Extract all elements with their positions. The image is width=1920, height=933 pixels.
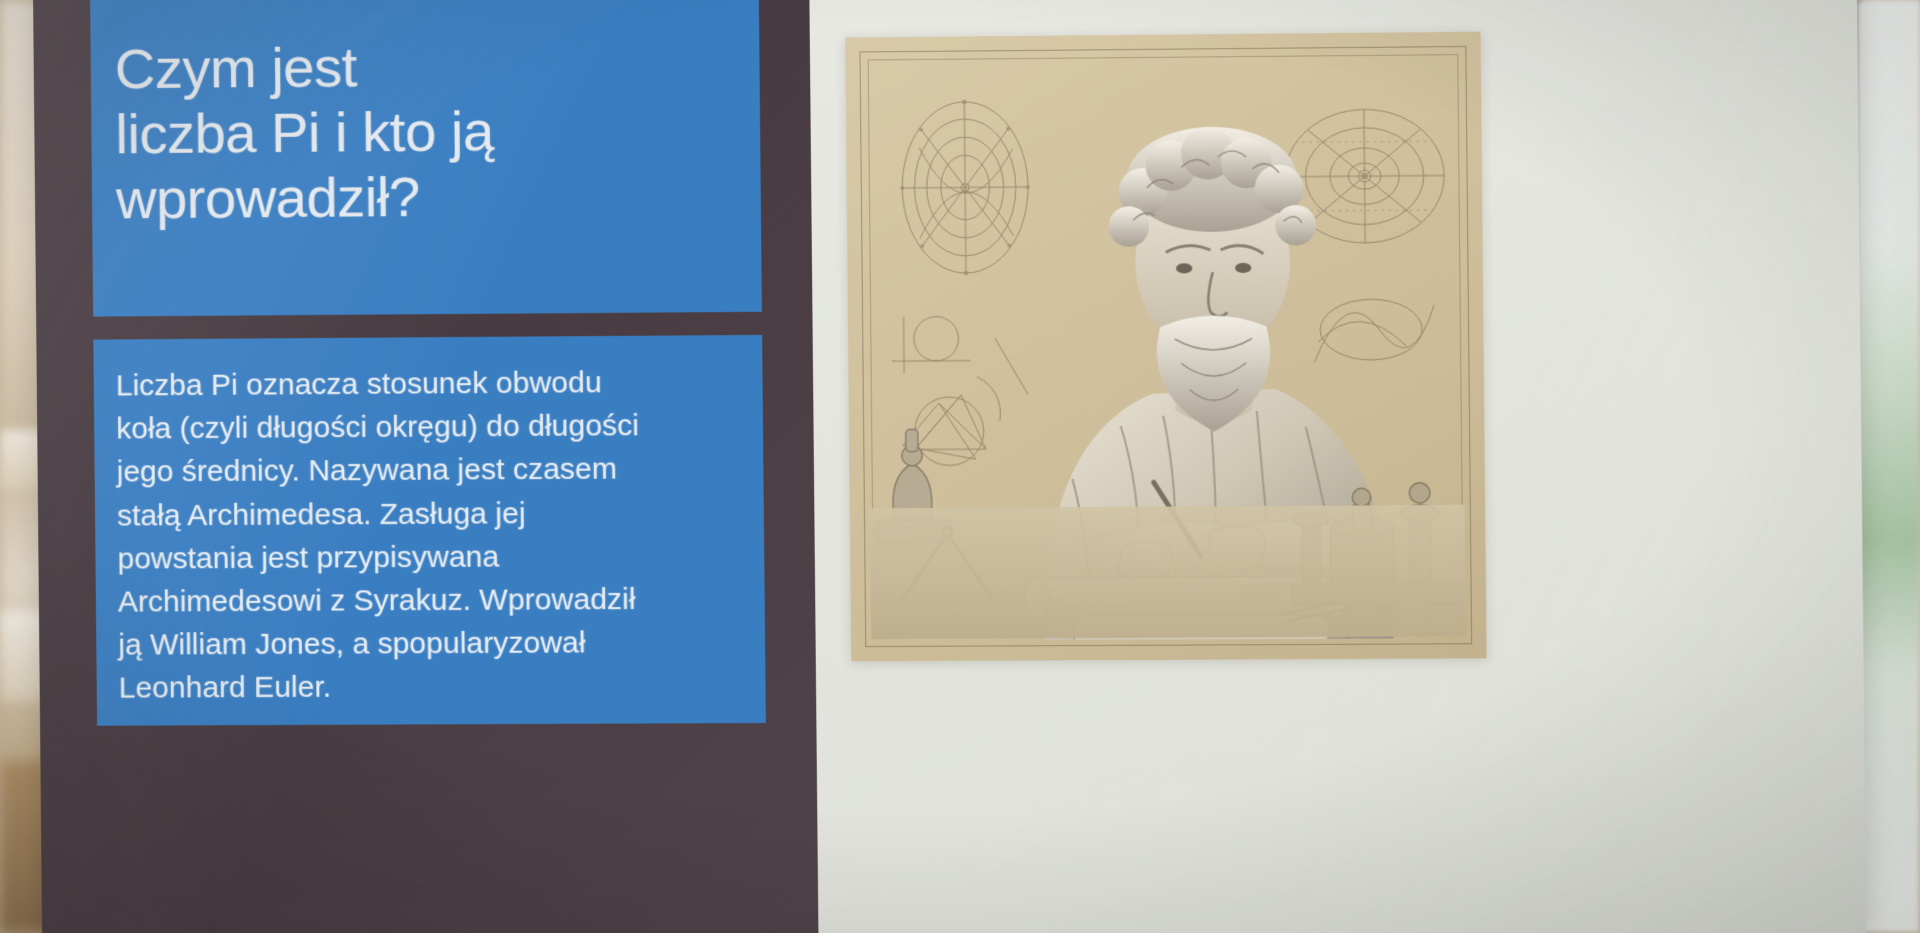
body-line-5: powstania jest przypisywana — [117, 540, 499, 575]
slide-title-line-1: Czym jest — [114, 35, 357, 100]
slide-title: Czym jest liczba Pi i kto ją wprowadził? — [114, 34, 494, 232]
body-line-6: Archimedesowi z Syrakuz. Wprowadził — [118, 583, 636, 619]
body-line-8: Leonhard Euler. — [119, 671, 332, 705]
body-line-1: Liczba Pi oznacza stosunek obwodu — [116, 366, 602, 402]
projected-slide: Czym jest liczba Pi i kto ją wprowadził?… — [33, 0, 1866, 933]
slide-body-box: Liczba Pi oznacza stosunek obwodu koła (… — [93, 335, 765, 726]
window-light — [1856, 0, 1920, 933]
body-line-4: stałą Archimedesa. Zasługa jej — [117, 497, 526, 532]
desk-surface — [870, 505, 1466, 639]
archimedes-illustration — [845, 32, 1486, 662]
body-line-2: koła (czyli długości okręgu) do długości — [116, 409, 639, 445]
slide-body-text: Liczba Pi oznacza stosunek obwodu koła (… — [116, 360, 746, 710]
slide-title-line-2: liczba Pi i kto ją — [115, 99, 494, 165]
slide-title-line-3: wprowadził? — [116, 165, 420, 231]
body-line-7: ją William Jones, a spopularyzował — [118, 626, 586, 661]
slide-title-box: Czym jest liczba Pi i kto ją wprowadził? — [90, 0, 762, 317]
screenshot-stage: Czym jest liczba Pi i kto ją wprowadził?… — [0, 0, 1920, 933]
illustration-canvas — [845, 32, 1486, 662]
body-line-3: jego średnicy. Nazywana jest czasem — [117, 453, 618, 489]
